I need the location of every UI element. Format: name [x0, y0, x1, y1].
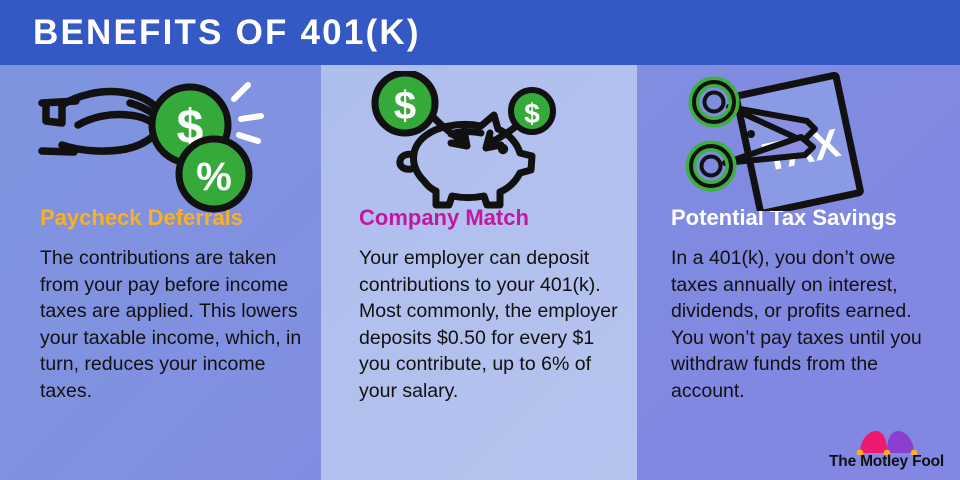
page-title: BENEFITS OF 401(K)	[0, 13, 421, 53]
svg-text:%: %	[196, 155, 232, 199]
svg-text:$: $	[524, 98, 540, 129]
hand-holding-coins-icon: $ %	[0, 65, 321, 205]
columns-container: $ % Paycheck Deferrals The contributions…	[0, 65, 960, 480]
dollar-coin-large-icon: $	[375, 73, 435, 133]
scissors-cutting-tax-paper-icon: TAX	[637, 65, 960, 205]
percent-coin-icon: %	[179, 139, 249, 209]
column-body-potential-tax-savings: In a 401(k), you don’t owe taxes annuall…	[637, 245, 955, 404]
header-bar: BENEFITS OF 401(K)	[0, 0, 960, 65]
column-body-company-match: Your employer can deposit contributions …	[321, 245, 637, 404]
jester-hat-icon	[856, 429, 918, 455]
infographic-canvas: BENEFITS OF 401(K)	[0, 0, 960, 480]
column-paycheck-deferrals: $ % Paycheck Deferrals The contributions…	[0, 65, 321, 480]
motley-fool-wordmark: The Motley Fool	[829, 453, 944, 471]
sparkle-lines-icon	[234, 85, 261, 141]
column-body-paycheck-deferrals: The contributions are taken from your pa…	[0, 245, 318, 404]
column-company-match: $ $	[321, 65, 637, 480]
motley-fool-logo: The Motley Fool	[829, 429, 944, 471]
piggy-eye-icon	[498, 144, 508, 154]
svg-text:$: $	[394, 84, 416, 128]
piggy-bank-coins-icon: $ $	[321, 65, 637, 205]
column-potential-tax-savings: TAX	[637, 65, 960, 480]
